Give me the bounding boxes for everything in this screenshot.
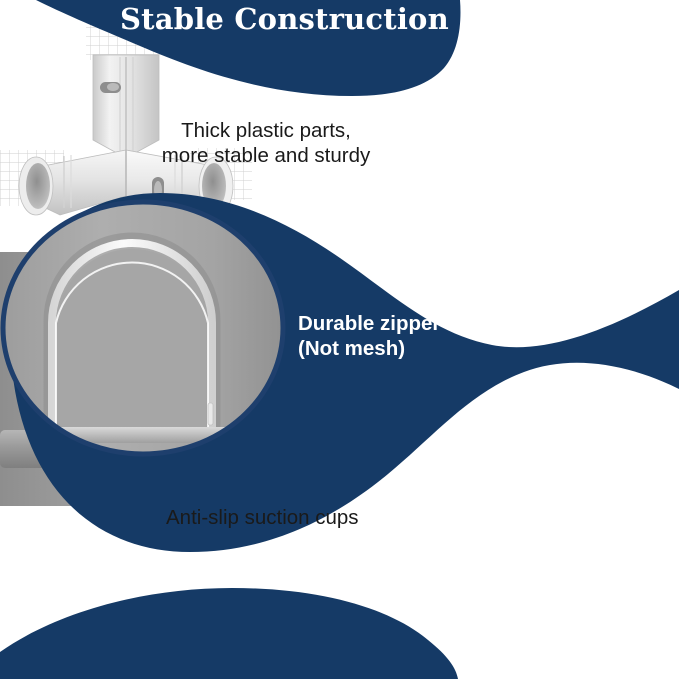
inset-zipper-door [4,203,282,453]
zipper-door-illustration [4,203,282,453]
callout-thick-plastic: Thick plastic parts, more stable and stu… [138,118,394,168]
callout-suction-cups: Anti-slip suction cups [166,505,446,530]
page-title: Stable Construction [120,2,440,36]
footer-blob-shape [0,588,458,679]
callout-zipper-door-line1: Durable zipper door [298,311,548,336]
callout-zipper-door-line2: (Not mesh) [298,336,548,361]
callout-suction-cups-line1: Anti-slip suction cups [166,505,446,530]
callout-zipper-door: Durable zipper door (Not mesh) [298,311,548,361]
callout-thick-plastic-line1: Thick plastic parts, [138,118,394,143]
infographic-page: Stable Construction Thick plastic parts,… [0,0,679,679]
door-fabric-panel [58,249,206,443]
callout-thick-plastic-line2: more stable and sturdy [138,143,394,168]
zipper-pull [208,403,213,425]
